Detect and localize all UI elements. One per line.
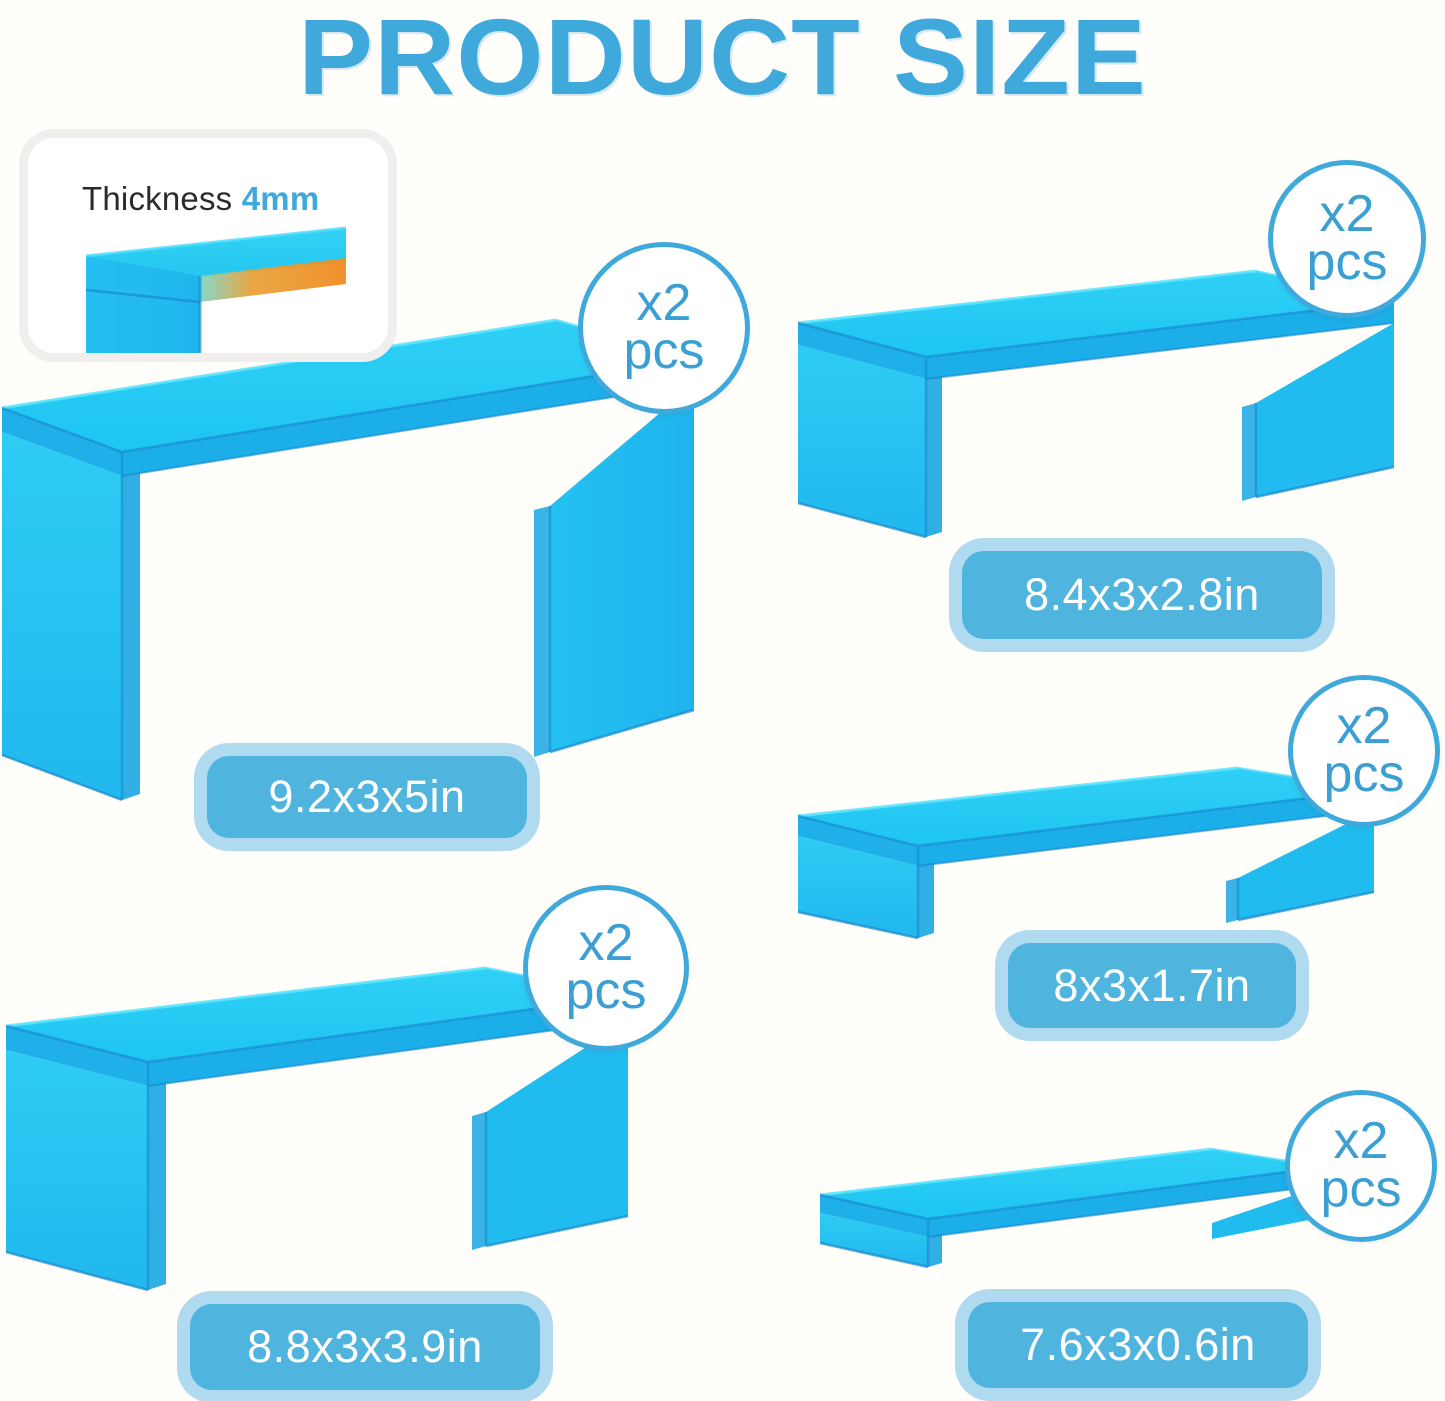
quantity-badge-7-6x3x0-6: x2 pcs <box>1285 1090 1437 1242</box>
thickness-label: Thickness <box>82 180 232 217</box>
quantity-unit: pcs <box>566 968 647 1016</box>
quantity-unit: pcs <box>1307 239 1388 287</box>
quantity-multiplier: x2 <box>1320 191 1375 239</box>
quantity-badge-9-2x3x5: x2 pcs <box>578 242 750 414</box>
thickness-callout-card: Thickness 4mm <box>28 138 388 353</box>
quantity-multiplier: x2 <box>579 920 634 968</box>
size-label-8-8x3x3-9: 8.8x3x3.9in <box>190 1304 540 1390</box>
quantity-unit: pcs <box>1324 751 1405 799</box>
product-riser-8x3x1-7 <box>786 760 1386 940</box>
quantity-multiplier: x2 <box>1337 703 1392 751</box>
size-label-8x3x1-7: 8x3x1.7in <box>1008 943 1296 1028</box>
quantity-badge-8x3x1-7: x2 pcs <box>1288 675 1440 827</box>
thickness-value: 4mm <box>242 180 320 217</box>
quantity-multiplier: x2 <box>1334 1118 1389 1166</box>
size-label-9-2x3x5: 9.2x3x5in <box>207 756 527 838</box>
size-label-8-4x3x2-8: 8.4x3x2.8in <box>962 551 1322 639</box>
quantity-badge-8-4x3x2-8: x2 pcs <box>1268 160 1426 318</box>
quantity-badge-8-8x3x3-9: x2 pcs <box>523 885 689 1051</box>
product-riser-7-6x3x0-6 <box>800 1135 1340 1270</box>
size-label-7-6x3x0-6: 7.6x3x0.6in <box>968 1302 1308 1388</box>
riser-corner-zoom-icon <box>28 214 388 353</box>
thickness-label-row: Thickness 4mm <box>82 180 319 218</box>
page-title: PRODUCT SIZE <box>0 0 1445 119</box>
quantity-unit: pcs <box>1321 1166 1402 1214</box>
quantity-unit: pcs <box>624 328 705 376</box>
quantity-multiplier: x2 <box>637 280 692 328</box>
